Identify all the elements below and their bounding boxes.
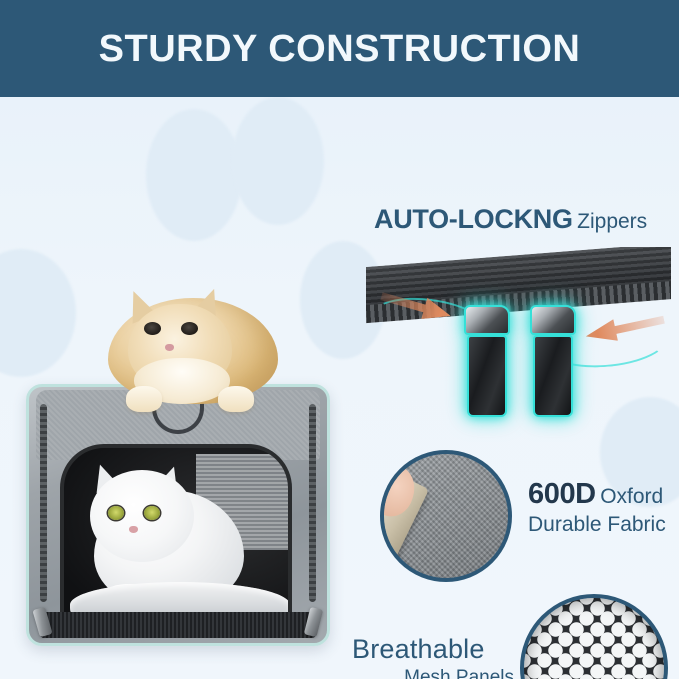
mesh-line-1: Breathable bbox=[352, 634, 520, 665]
cat-paw-icon bbox=[126, 386, 162, 412]
product-infographic: STURDY CONSTRUCTION bbox=[0, 0, 679, 679]
mesh-panel bbox=[40, 612, 316, 638]
fabric-denier-value: 600D bbox=[528, 478, 596, 510]
page-title: STURDY CONSTRUCTION bbox=[99, 30, 581, 68]
pet-carrier bbox=[26, 384, 330, 646]
zipper-heading-bold: AUTO-LOCKNG bbox=[374, 204, 573, 234]
cat-on-top-icon bbox=[100, 274, 285, 409]
fabric-line-2: Durable Fabric bbox=[528, 513, 666, 537]
zipper-pull-icon bbox=[530, 305, 576, 417]
cat-eye-icon bbox=[108, 506, 124, 520]
cat-eye-icon bbox=[181, 322, 198, 335]
mesh-swatch-icon bbox=[520, 594, 668, 679]
cat-head bbox=[90, 470, 194, 562]
zipper-pull-icon bbox=[464, 305, 510, 417]
fabric-swatch-icon bbox=[380, 450, 512, 582]
mesh-line-2: Mesh Panels bbox=[352, 667, 520, 679]
breathable-mesh-feature: Breathable Mesh Panels bbox=[352, 594, 672, 679]
cat-nose-icon bbox=[165, 344, 174, 351]
zipper-closeup-photo bbox=[366, 247, 671, 442]
zipper-slider-body bbox=[464, 305, 510, 335]
mesh-text-block: Breathable Mesh Panels bbox=[352, 634, 520, 679]
zipper-track bbox=[40, 404, 47, 602]
cat-nose-icon bbox=[129, 526, 138, 533]
fabric-material-label: Oxford bbox=[600, 485, 663, 508]
carrier-photo bbox=[18, 202, 358, 679]
zipper-track bbox=[309, 404, 316, 602]
cat-eye-icon bbox=[144, 322, 161, 335]
fabric-text-block: 600D Oxford Durable Fabric bbox=[528, 478, 666, 537]
zipper-pull-tab bbox=[467, 335, 507, 417]
fabric-line-1: 600D Oxford bbox=[528, 478, 666, 511]
content-area: WONT COLLASPE AUTO-LOCKNG Zippers bbox=[0, 97, 679, 679]
auto-locking-zippers-feature: AUTO-LOCKNG Zippers bbox=[366, 204, 671, 442]
oxford-fabric-feature: 600D Oxford Durable Fabric bbox=[380, 450, 670, 585]
zipper-pull-tab bbox=[533, 335, 573, 417]
carrier-door-opening bbox=[60, 444, 292, 630]
zipper-heading-light: Zippers bbox=[577, 210, 647, 233]
zipper-slider-body bbox=[530, 305, 576, 335]
cat-eye-icon bbox=[144, 506, 160, 520]
zipper-heading: AUTO-LOCKNG Zippers bbox=[374, 204, 671, 235]
cat-paw-icon bbox=[218, 386, 254, 412]
header-banner: STURDY CONSTRUCTION bbox=[0, 0, 679, 97]
